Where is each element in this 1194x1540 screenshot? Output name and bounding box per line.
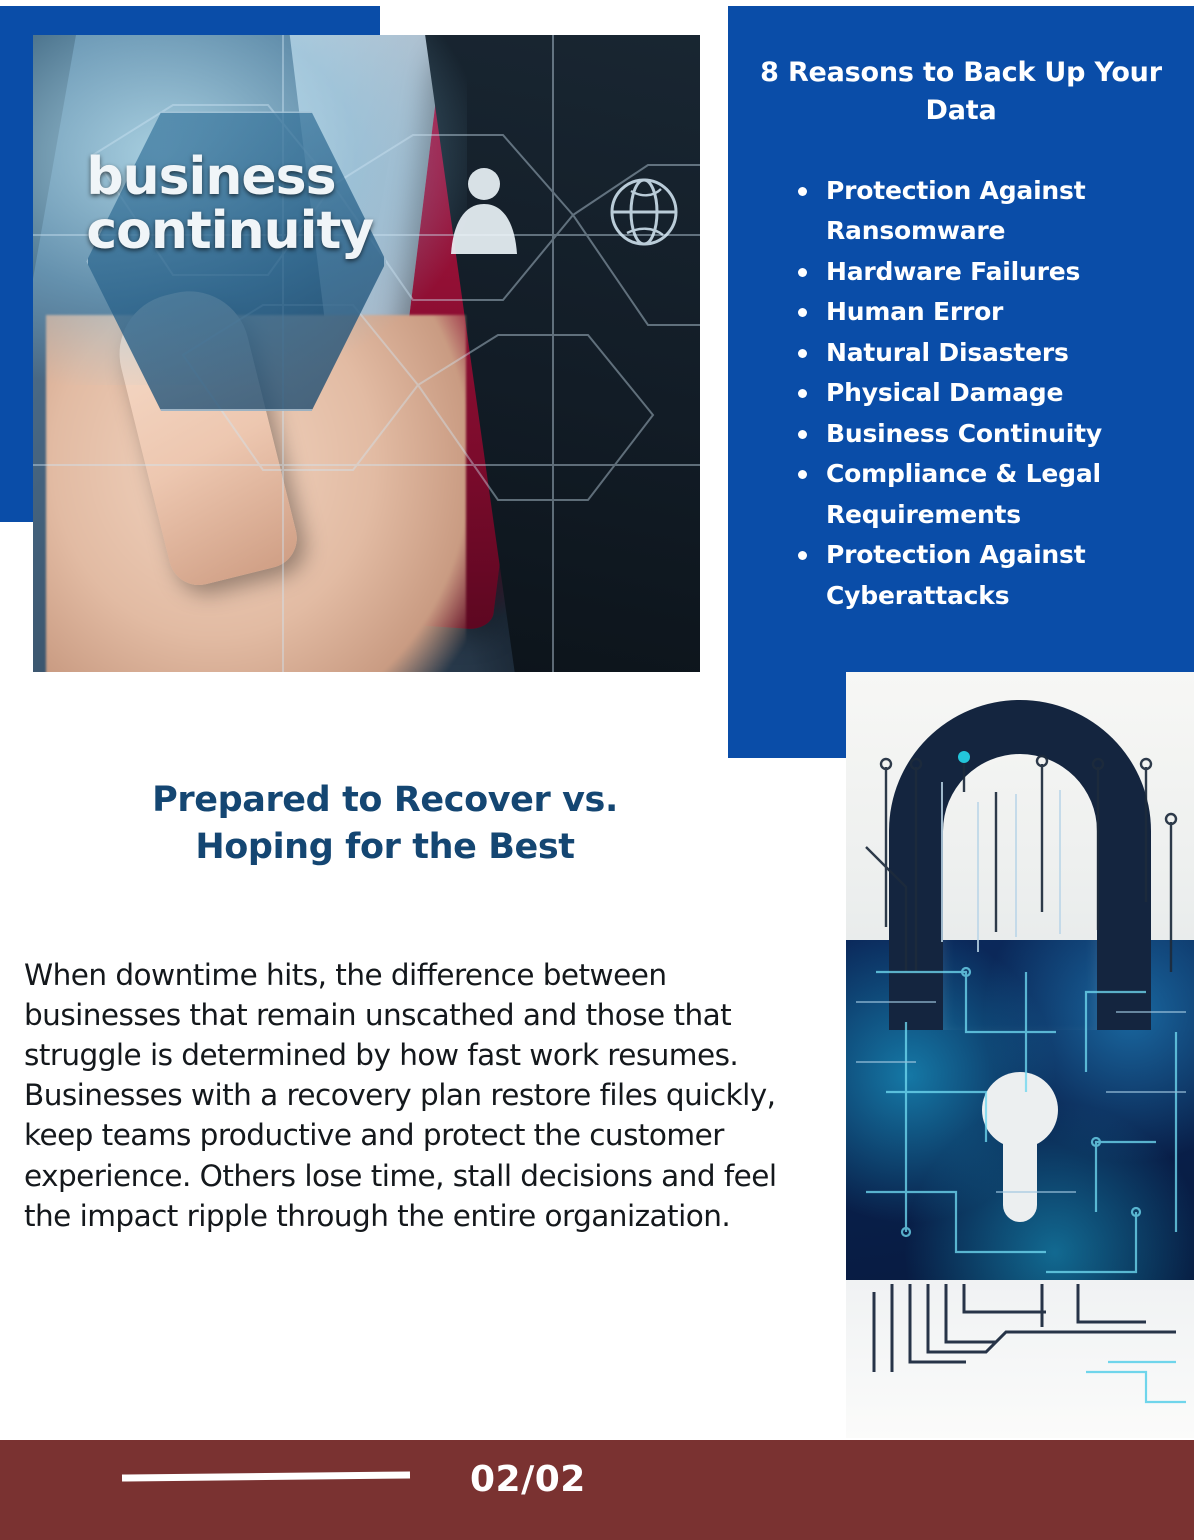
list-item: Natural Disasters — [796, 333, 1162, 374]
section-heading: Prepared to Recover vs. Hoping for the B… — [40, 777, 730, 871]
globe-icon — [607, 175, 681, 249]
section-heading-line-2: Hoping for the Best — [40, 824, 730, 871]
reasons-panel: 8 Reasons to Back Up Your Data Protectio… — [728, 6, 1194, 758]
list-item: Physical Damage — [796, 373, 1162, 414]
lock-image-data-security — [846, 672, 1194, 1438]
list-item: Protection Against Ransomware — [796, 171, 1162, 252]
section-body-text: When downtime hits, the difference betwe… — [24, 955, 819, 1236]
list-item: Compliance & Legal Requirements — [796, 454, 1162, 535]
footer-divider-line — [122, 1471, 410, 1481]
list-item: Protection Against Cyberattacks — [796, 535, 1162, 616]
slide-page: business continuity 8 Reasons to Back Up… — [0, 0, 1194, 1540]
person-icon — [447, 162, 521, 258]
hero-caption-line-1: business — [86, 150, 416, 204]
hero-image-business-continuity: business continuity — [33, 35, 700, 672]
footer-bar: 02/02 — [0, 1440, 1194, 1540]
section-heading-line-1: Prepared to Recover vs. — [40, 777, 730, 824]
circuit-traces-overlay-icon — [846, 672, 1194, 1438]
list-item: Human Error — [796, 292, 1162, 333]
reasons-list: Protection Against Ransomware Hardware F… — [760, 171, 1162, 617]
page-number: 02/02 — [470, 1459, 586, 1500]
list-item: Hardware Failures — [796, 252, 1162, 293]
hero-caption: business continuity — [86, 150, 416, 258]
list-item: Business Continuity — [796, 414, 1162, 455]
reasons-panel-title: 8 Reasons to Back Up Your Data — [760, 54, 1162, 131]
hero-caption-line-2: continuity — [86, 204, 416, 258]
